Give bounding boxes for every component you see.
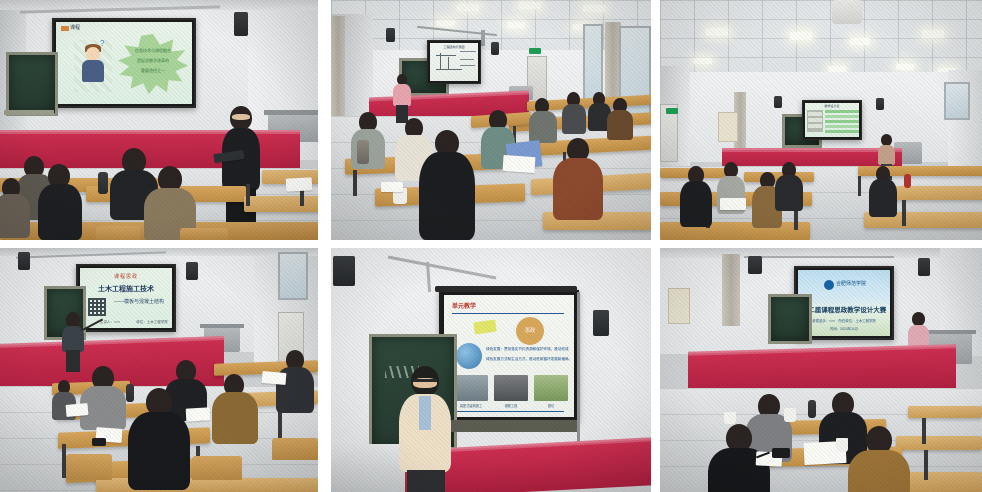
projection-screen-2: 工程结构示意图	[427, 40, 481, 84]
photo-panel-2[interactable]: 工程结构示意图	[331, 0, 651, 240]
ceiling-speaker-3	[832, 0, 862, 24]
window-curtain-6	[722, 254, 740, 326]
qr-code-4	[88, 298, 106, 316]
burst-line-1c: 重要途径之一	[122, 68, 184, 74]
slide-badge-text-5: 思政	[516, 327, 544, 334]
projection-screen-5: 单元教学 思政 绿色发展：贯彻落实节约资源和保护环境，推动形成 绿色发展方式和生…	[439, 290, 579, 422]
glasses-5	[413, 379, 437, 382]
ceiling-lamp	[922, 30, 944, 38]
ceiling-lamp	[706, 28, 728, 36]
slide-content-2: 工程结构示意图	[430, 43, 478, 81]
slide-header-text-5: 单元教学	[452, 301, 504, 310]
ceiling-lamp	[519, 2, 541, 9]
wall-speaker-2	[386, 28, 395, 42]
wall-poster-6	[668, 288, 690, 324]
ceiling-lamp	[694, 58, 712, 64]
wall-speaker-6	[918, 258, 930, 276]
slide-thumb-5c	[534, 375, 568, 401]
screen-roller-5	[435, 286, 577, 292]
wall-speaker-1	[234, 12, 248, 36]
photo-collage: 课程 ? 信息技术与课程融合 是促进教学改革的 重要途径之一	[0, 0, 982, 492]
blackboard-1	[6, 52, 58, 116]
slide-body-line-5a: 绿色发展：贯彻落实节约资源和保护环境，推动形成	[486, 347, 572, 352]
wall-poster-3	[718, 112, 738, 142]
wall-speaker-4	[18, 252, 30, 270]
window-3	[944, 82, 970, 120]
projection-screen-1: 课程 ? 信息技术与课程融合 是促进教学改革的 重要途径之一	[52, 18, 196, 108]
wall-speaker-3	[876, 98, 884, 110]
chalk-tray-1	[4, 110, 54, 115]
slide-header-text-4: 课程思政	[80, 273, 172, 280]
ceiling-lamp	[790, 32, 812, 40]
slide-content-4: 课程思政 土木工程施工技术 ——模板与混凝土结构 主讲人：××× 单位：土木工程…	[80, 268, 172, 328]
phone-on-desk-6	[772, 448, 790, 458]
thermos-1	[98, 172, 108, 194]
ceiling-lamp	[507, 22, 525, 28]
slide-content-1: 课程 ? 信息技术与课程融合 是促进教学改革的 重要途径之一	[56, 22, 192, 104]
slide-body-line-5b: 绿色发展方式和生活方式，推动低碳循环发展新格局。	[486, 357, 572, 362]
photo-panel-6[interactable]: 合肥师范学院 第二届课程思政教学设计大赛 参赛选手：××× 所在单位：土木工程学…	[660, 248, 982, 492]
ceiling-lamp	[896, 64, 914, 70]
exit-sign-3	[666, 108, 678, 114]
slide-content-3: 教学设计表	[805, 103, 859, 137]
slide-thumb-5b	[494, 375, 528, 401]
presenter-1	[216, 106, 266, 236]
slide-thumb-caption-5c: 基坑	[534, 403, 568, 408]
burst-line-1b: 是促进教学改革的	[122, 58, 184, 64]
slide-content-5: 单元教学 思政 绿色发展：贯彻落实节约资源和保护环境，推动形成 绿色发展方式和生…	[444, 295, 574, 417]
wall-speaker-5	[593, 310, 609, 336]
wall-speaker-4	[186, 262, 198, 280]
projection-screen-3: 教学设计表	[802, 100, 862, 140]
desk-row-6a	[908, 406, 982, 418]
slide-thumb-5a	[454, 375, 488, 401]
ceiling-lamp	[850, 38, 870, 45]
slide-institution-text-6: 合肥师范学院	[836, 280, 880, 287]
desk-row-1d	[244, 196, 318, 212]
wall-speaker-5	[333, 256, 355, 286]
slide-footer-right-4: 单位：土木工程学院	[130, 320, 172, 325]
wall-speaker-3	[774, 96, 782, 108]
slide-header-text-1: 课程	[70, 24, 192, 31]
slide-thumb-caption-5b: 钢筋工程	[494, 403, 528, 408]
desk-row-6c	[896, 436, 982, 450]
slide-thumb-caption-5a: 装配式建筑施工	[452, 403, 490, 408]
slide-title-text-4: 土木工程施工技术	[80, 284, 172, 294]
slide-header-text-2: 工程结构示意图	[430, 45, 478, 49]
floor-5	[331, 444, 405, 492]
slide-badge-5	[473, 320, 496, 335]
burst-line-1a: 信息技术与课程融合	[122, 48, 184, 54]
ceiling-lamp	[457, 4, 479, 11]
slide-header-text-3: 教学设计表	[805, 104, 859, 108]
blackboard-6	[768, 294, 812, 344]
phone-on-desk-4	[92, 438, 106, 446]
exit-sign-2	[529, 48, 541, 54]
wall-speaker-2	[491, 42, 499, 55]
starburst-shape-1	[118, 34, 188, 94]
window-4	[278, 252, 308, 300]
institution-logo-6	[824, 280, 834, 290]
ceiling-lamp	[437, 20, 455, 26]
photo-panel-4[interactable]: 课程思政 土木工程施工技术 ——模板与混凝土结构 主讲人：××× 单位：土木工程…	[0, 248, 318, 492]
photo-panel-1[interactable]: 课程 ? 信息技术与课程融合 是促进教学改革的 重要途径之一	[0, 0, 318, 240]
photo-panel-5[interactable]: 单元教学 思政 绿色发展：贯彻落实节约资源和保护环境，推动形成 绿色发展方式和生…	[331, 248, 651, 492]
ceiling-lamp	[583, 5, 605, 12]
wall-speaker-6	[748, 256, 762, 274]
photo-panel-3[interactable]: 教学设计表	[660, 0, 982, 240]
cartoon-question-mark: ?	[100, 39, 114, 48]
projection-screen-4: 课程思政 土木工程施工技术 ——模板与混凝土结构 主讲人：××× 单位：土木工程…	[76, 264, 176, 332]
slide-globe-5	[456, 343, 482, 369]
